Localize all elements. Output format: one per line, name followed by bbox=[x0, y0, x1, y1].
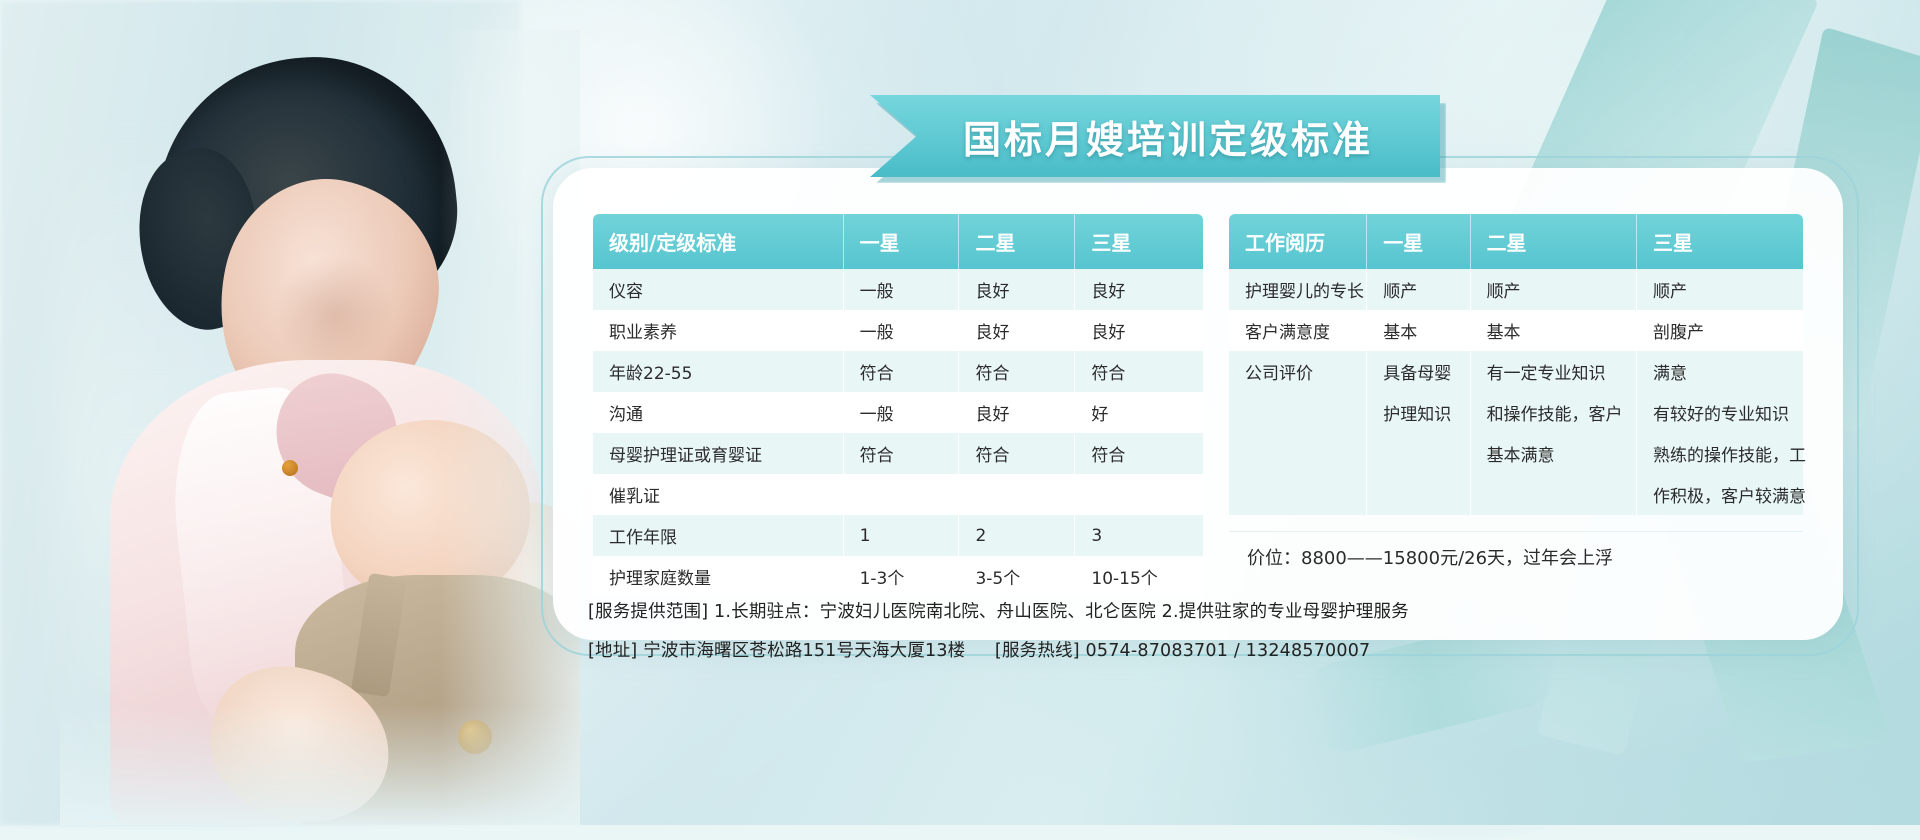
tables-container: 级别/定级标准 一星 二星 三星 仪容 一般 良好 良好 职业素养 一般 良好 bbox=[553, 168, 1843, 640]
work-experience-table: 工作阅历 一星 二星 三星 护理婴儿的专长 顺产 顺产 顺产 客户满意度 基本 … bbox=[1229, 214, 1803, 515]
cell-three-star: 熟练的操作技能，工 bbox=[1637, 433, 1803, 474]
table-header-row: 工作阅历 一星 二星 三星 bbox=[1229, 214, 1803, 269]
cell-one-star: 1 bbox=[843, 515, 959, 556]
footer-hotline: [服务热线] 0574-87083701 / 13248570007 bbox=[995, 641, 1370, 661]
cell-two-star: 符合 bbox=[959, 433, 1075, 474]
cell-experience bbox=[1229, 474, 1367, 515]
cell-two-star: 和操作技能，客户 bbox=[1470, 392, 1636, 433]
cell-three-star: 剖腹产 bbox=[1637, 310, 1803, 351]
cell-criteria: 职业素养 bbox=[593, 310, 843, 351]
footer-service-scope: [服务提供范围] 1.长期驻点：宁波妇儿医院南北院、舟山医院、北仑医院 2.提供… bbox=[588, 598, 1788, 623]
cell-three-star: 良好 bbox=[1075, 269, 1203, 310]
cell-criteria: 护理家庭数量 bbox=[593, 556, 843, 597]
column-header-experience: 工作阅历 bbox=[1229, 214, 1367, 269]
table-row: 职业素养 一般 良好 良好 bbox=[593, 310, 1203, 351]
title-banner: 国标月嫂培训定级标准 bbox=[870, 95, 1440, 177]
cell-three-star: 3 bbox=[1075, 515, 1203, 556]
right-table-wrapper: 工作阅历 一星 二星 三星 护理婴儿的专长 顺产 顺产 顺产 客户满意度 基本 … bbox=[1229, 214, 1803, 640]
table-row: 护理知识 和操作技能，客户 有较好的专业知识 bbox=[1229, 392, 1803, 433]
cell-two-star: 2 bbox=[959, 515, 1075, 556]
table-row: 工作年限 1 2 3 bbox=[593, 515, 1203, 556]
cell-three-star bbox=[1075, 474, 1203, 515]
cell-two-star bbox=[959, 474, 1075, 515]
photo-fade-bottom bbox=[60, 705, 580, 825]
cell-criteria: 沟通 bbox=[593, 392, 843, 433]
column-header-three-star: 三星 bbox=[1075, 214, 1203, 269]
cell-experience bbox=[1229, 433, 1367, 474]
table-header-row: 级别/定级标准 一星 二星 三星 bbox=[593, 214, 1203, 269]
cell-two-star: 基本满意 bbox=[1470, 433, 1636, 474]
cell-three-star: 顺产 bbox=[1637, 269, 1803, 310]
table-row: 客户满意度 基本 基本 剖腹产 bbox=[1229, 310, 1803, 351]
cell-two-star: 良好 bbox=[959, 310, 1075, 351]
photo-coat-button bbox=[282, 460, 298, 476]
cell-experience: 护理婴儿的专长 bbox=[1229, 269, 1367, 310]
table-row: 沟通 一般 良好 好 bbox=[593, 392, 1203, 433]
footer-address-line: [地址] 宁波市海曙区苍松路151号天海大厦13楼 [服务热线] 0574-87… bbox=[588, 637, 1788, 662]
table-row: 母婴护理证或育婴证 符合 符合 符合 bbox=[593, 433, 1203, 474]
cell-one-star: 顺产 bbox=[1367, 269, 1470, 310]
cell-criteria: 工作年限 bbox=[593, 515, 843, 556]
cell-one-star: 一般 bbox=[843, 269, 959, 310]
cell-one-star: 具备母婴 bbox=[1367, 351, 1470, 392]
cell-one-star bbox=[843, 474, 959, 515]
cell-experience: 公司评价 bbox=[1229, 351, 1367, 392]
mother-and-baby-photo bbox=[60, 30, 580, 825]
cell-one-star bbox=[1367, 433, 1470, 474]
table-row: 作积极，客户较满意 bbox=[1229, 474, 1803, 515]
table-row: 护理家庭数量 1-3个 3-5个 10-15个 bbox=[593, 556, 1203, 597]
column-header-three-star: 三星 bbox=[1637, 214, 1803, 269]
column-header-one-star: 一星 bbox=[843, 214, 959, 269]
cell-criteria: 催乳证 bbox=[593, 474, 843, 515]
column-header-two-star: 二星 bbox=[959, 214, 1075, 269]
page-title: 国标月嫂培训定级标准 bbox=[870, 95, 1440, 177]
cell-two-star: 良好 bbox=[959, 269, 1075, 310]
photo-face-shadow bbox=[275, 255, 395, 375]
cell-two-star: 良好 bbox=[959, 392, 1075, 433]
cell-two-star: 基本 bbox=[1470, 310, 1636, 351]
cell-three-star: 良好 bbox=[1075, 310, 1203, 351]
table-row: 年龄22-55 符合 符合 符合 bbox=[593, 351, 1203, 392]
cell-one-star: 护理知识 bbox=[1367, 392, 1470, 433]
table-row: 催乳证 bbox=[593, 474, 1203, 515]
cell-one-star: 一般 bbox=[843, 392, 959, 433]
footer-address: [地址] 宁波市海曙区苍松路151号天海大厦13楼 bbox=[588, 641, 965, 661]
cell-two-star: 顺产 bbox=[1470, 269, 1636, 310]
cell-two-star: 符合 bbox=[959, 351, 1075, 392]
cell-experience bbox=[1229, 392, 1367, 433]
cell-criteria: 母婴护理证或育婴证 bbox=[593, 433, 843, 474]
cell-criteria: 仪容 bbox=[593, 269, 843, 310]
cell-two-star: 有一定专业知识 bbox=[1470, 351, 1636, 392]
cell-one-star bbox=[1367, 474, 1470, 515]
cell-three-star: 有较好的专业知识 bbox=[1637, 392, 1803, 433]
cell-three-star: 好 bbox=[1075, 392, 1203, 433]
left-table-wrapper: 级别/定级标准 一星 二星 三星 仪容 一般 良好 良好 职业素养 一般 良好 bbox=[593, 214, 1203, 640]
cell-one-star: 符合 bbox=[843, 433, 959, 474]
cell-one-star: 符合 bbox=[843, 351, 959, 392]
column-header-one-star: 一星 bbox=[1367, 214, 1470, 269]
cell-one-star: 基本 bbox=[1367, 310, 1470, 351]
table-row: 仪容 一般 良好 良好 bbox=[593, 269, 1203, 310]
grading-standard-table: 级别/定级标准 一星 二星 三星 仪容 一般 良好 良好 职业素养 一般 良好 bbox=[593, 214, 1203, 597]
cell-criteria: 年龄22-55 bbox=[593, 351, 843, 392]
price-note: 价位：8800——15800元/26天，过年会上浮 bbox=[1229, 531, 1803, 570]
cell-experience: 客户满意度 bbox=[1229, 310, 1367, 351]
column-header-criteria: 级别/定级标准 bbox=[593, 214, 843, 269]
cell-three-star: 10-15个 bbox=[1075, 556, 1203, 597]
cell-three-star: 符合 bbox=[1075, 351, 1203, 392]
cell-two-star bbox=[1470, 474, 1636, 515]
cell-three-star: 作积极，客户较满意 bbox=[1637, 474, 1803, 515]
column-header-two-star: 二星 bbox=[1470, 214, 1636, 269]
table-row: 公司评价 具备母婴 有一定专业知识 满意 bbox=[1229, 351, 1803, 392]
table-row: 基本满意 熟练的操作技能，工 bbox=[1229, 433, 1803, 474]
cell-three-star: 符合 bbox=[1075, 433, 1203, 474]
cell-two-star: 3-5个 bbox=[959, 556, 1075, 597]
footer: [服务提供范围] 1.长期驻点：宁波妇儿医院南北院、舟山医院、北仑医院 2.提供… bbox=[588, 598, 1788, 676]
table-row: 护理婴儿的专长 顺产 顺产 顺产 bbox=[1229, 269, 1803, 310]
cell-three-star: 满意 bbox=[1637, 351, 1803, 392]
cell-one-star: 一般 bbox=[843, 310, 959, 351]
cell-one-star: 1-3个 bbox=[843, 556, 959, 597]
